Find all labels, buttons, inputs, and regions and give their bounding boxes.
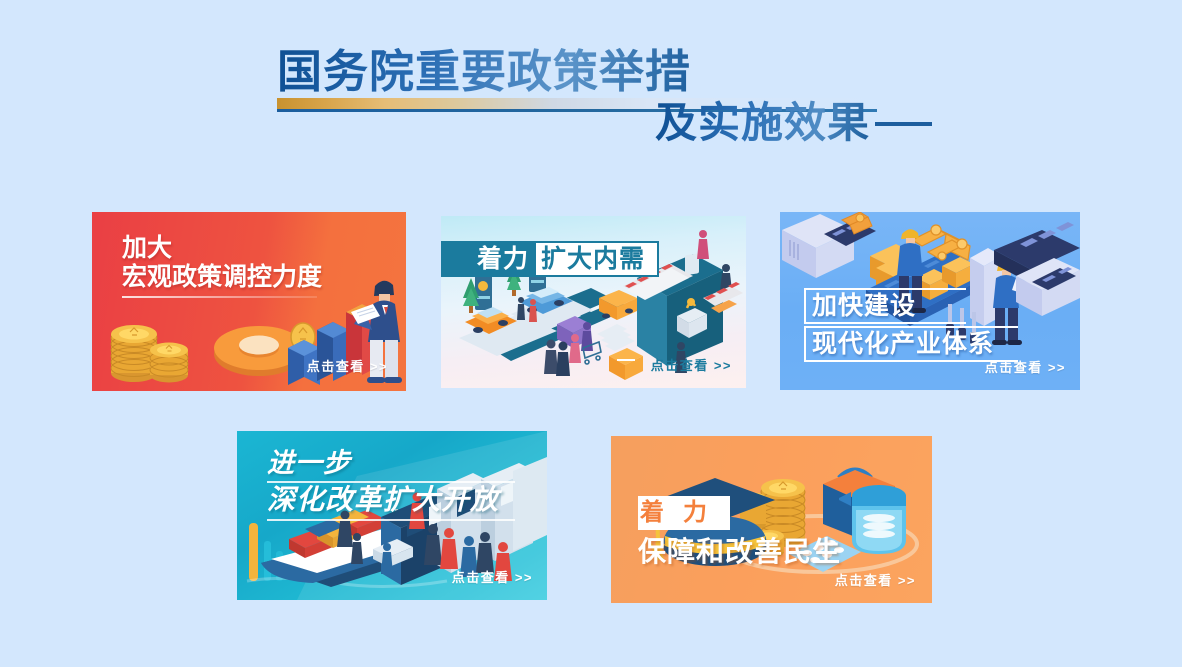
title-dash-decoration xyxy=(875,122,932,126)
card-welfare-line1-char-b: 力 xyxy=(683,499,707,527)
card-reform-divider-1 xyxy=(267,481,515,483)
card-demand-cta[interactable]: 点击查看 >> xyxy=(651,355,732,374)
card-demand-line2: 扩大内需 xyxy=(541,245,645,274)
card-deepen-reform[interactable]: 进一步 深化改革扩大开放 点击查看 >> xyxy=(237,431,547,600)
card-improve-welfare[interactable]: 着 力 保障和改善民生 点击查看 >> xyxy=(611,436,932,603)
card-reform-divider-2 xyxy=(267,519,515,521)
card-reform-line2: 深化改革扩大开放 xyxy=(267,484,499,516)
card-reform-cta[interactable]: 点击查看 >> xyxy=(452,567,533,586)
page-title-line1: 国务院重要政策举措 xyxy=(277,46,691,98)
card-industry-cta[interactable]: 点击查看 >> xyxy=(985,357,1066,376)
card-macro-line2: 宏观政策调控力度 xyxy=(122,263,322,292)
card-macro-policy[interactable]: 加大 宏观政策调控力度 点击查看 >> xyxy=(92,212,406,391)
card-welfare-cta[interactable]: 点击查看 >> xyxy=(835,570,916,589)
card-macro-divider xyxy=(122,296,317,298)
page-title-line2: 及实施效果 xyxy=(655,98,870,148)
card-expand-demand[interactable]: 着力 扩大内需 点击查看 >> xyxy=(441,216,746,388)
card-reform-line1: 进一步 xyxy=(267,448,351,479)
card-demand-line1: 着力 xyxy=(477,245,529,274)
page-title: 国务院重要政策举措 及实施效果 xyxy=(0,46,1182,156)
card-industry-line2: 现代化产业体系 xyxy=(812,329,994,359)
card-modern-industry[interactable]: 加快建设 现代化产业体系 点击查看 >> xyxy=(780,212,1080,390)
card-welfare-line1-char-a: 着 xyxy=(640,499,664,527)
card-industry-line1: 加快建设 xyxy=(812,291,916,321)
card-macro-cta[interactable]: 点击查看 >> xyxy=(307,356,388,375)
card-macro-line1: 加大 xyxy=(122,234,172,263)
card-welfare-line2: 保障和改善民生 xyxy=(638,536,841,568)
